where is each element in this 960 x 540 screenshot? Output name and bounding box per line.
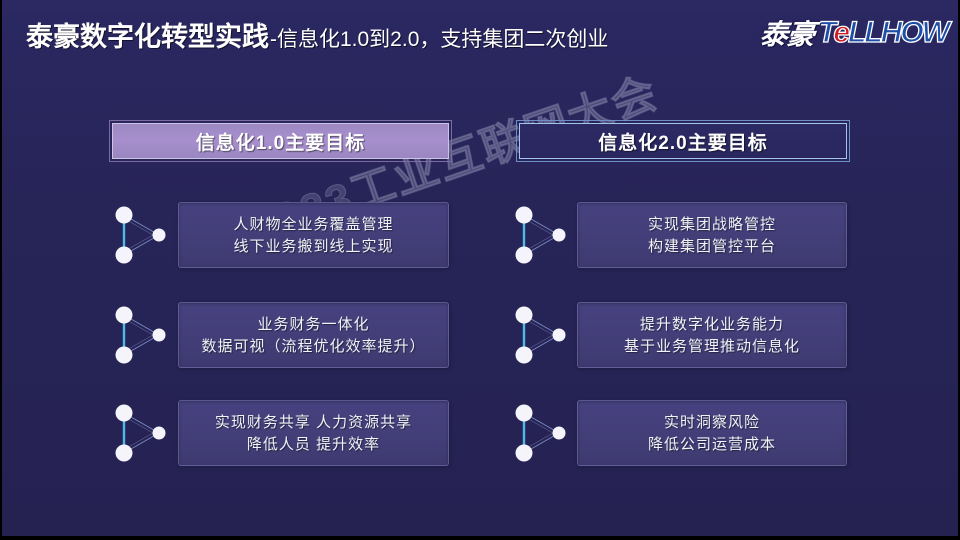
triangle-nodes-icon bbox=[510, 396, 572, 468]
goal-card: 实现集团战略管控 构建集团管控平台 bbox=[577, 202, 847, 268]
company-logo: 泰豪 TeLLHOW bbox=[760, 10, 948, 56]
goal-card: 实时洞察风险 降低公司运营成本 bbox=[577, 400, 847, 466]
title-subtitle-text: -信息化1.0到2.0，支持集团二次创业 bbox=[270, 28, 608, 51]
column-header-label: 信息化2.0主要目标 bbox=[598, 128, 767, 155]
goal-card: 提升数字化业务能力 基于业务管理推动信息化 bbox=[577, 302, 847, 368]
goal-line-2: 构建集团管控平台 bbox=[648, 239, 776, 254]
triangle-nodes-icon bbox=[510, 298, 572, 370]
column-header-label: 信息化1.0主要目标 bbox=[196, 128, 365, 155]
logo-english-text: TeLLHOW bbox=[818, 18, 948, 48]
list-item: 提升数字化业务能力 基于业务管理推动信息化 bbox=[2, 298, 882, 370]
goal-line-1: 实现集团战略管控 bbox=[648, 217, 776, 232]
list-item: 实现集团战略管控 构建集团管控平台 bbox=[2, 198, 882, 270]
goal-line-2: 降低公司运营成本 bbox=[648, 437, 776, 452]
logo-letter-t: T bbox=[818, 16, 833, 49]
goal-line-1: 提升数字化业务能力 bbox=[640, 317, 784, 332]
goal-line-2: 基于业务管理推动信息化 bbox=[624, 339, 800, 354]
column-header-info-2-0: 信息化2.0主要目标 bbox=[519, 123, 847, 159]
logo-chinese-text: 泰豪 bbox=[758, 13, 816, 53]
goal-line-1: 实时洞察风险 bbox=[664, 415, 760, 430]
triangle-nodes-icon bbox=[510, 198, 572, 270]
page-title: 泰豪数字化转型实践-信息化1.0到2.0，支持集团二次创业 bbox=[26, 15, 608, 54]
slide-canvas: 2023工业互联网大会 泰豪数字化转型实践-信息化1.0到2.0，支持集团二次创… bbox=[0, 0, 960, 540]
logo-letter-e: e bbox=[833, 16, 848, 49]
slide-title-bar: 泰豪数字化转型实践-信息化1.0到2.0，支持集团二次创业 泰豪 TeLLHOW bbox=[2, 0, 960, 66]
column-header-info-1-0: 信息化1.0主要目标 bbox=[112, 123, 449, 159]
list-item: 实时洞察风险 降低公司运营成本 bbox=[2, 396, 882, 468]
title-main-text: 泰豪数字化转型实践 bbox=[26, 22, 269, 52]
logo-letters-rest: LLHOW bbox=[848, 16, 948, 49]
